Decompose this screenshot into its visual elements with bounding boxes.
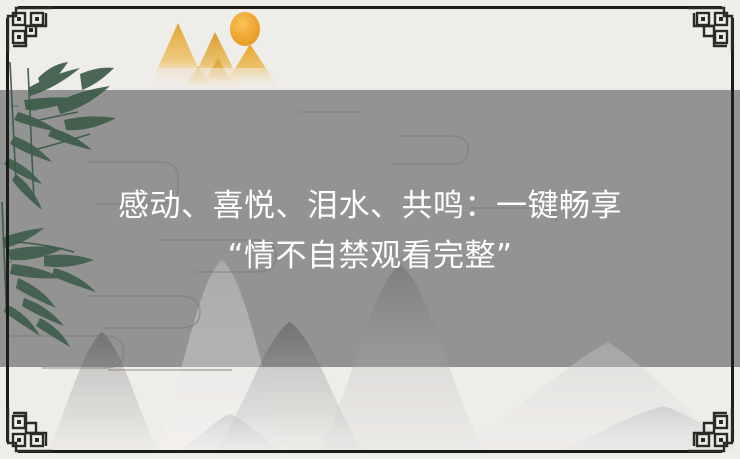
banner-root: 感动、喜悦、泪水、共鸣：一键畅享 “情不自禁观看完整”	[0, 0, 740, 459]
sun-shape	[230, 12, 260, 46]
corner-ornament-top-right	[682, 2, 738, 58]
mountain-haze	[140, 68, 310, 90]
frame-line-bottom	[18, 450, 722, 453]
corner-ornament-bottom-right	[682, 401, 738, 457]
corner-ornament-top-left	[2, 2, 58, 58]
headline-line-2: “情不自禁观看完整”	[0, 231, 740, 281]
bamboo-leaf-cluster-upper	[14, 62, 116, 150]
headline-line-1: 感动、喜悦、泪水、共鸣：一键畅享	[0, 181, 740, 231]
lower-haze	[0, 367, 740, 452]
sun-and-golden-mountains	[140, 6, 310, 90]
headline-text: 感动、喜悦、泪水、共鸣：一键畅享 “情不自禁观看完整”	[0, 181, 740, 281]
corner-ornament-bottom-left	[2, 401, 58, 457]
frame-line-top	[18, 6, 722, 9]
